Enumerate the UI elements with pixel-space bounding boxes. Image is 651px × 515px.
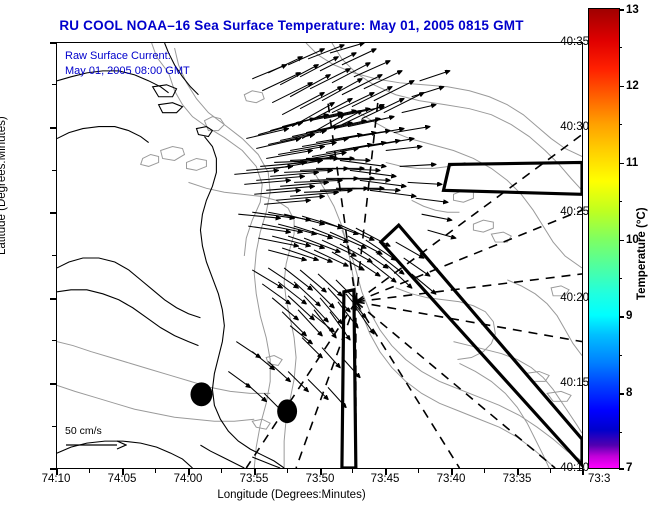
y-tick-label: 40:10: [560, 462, 589, 474]
colorbar-tick-minor: [619, 355, 622, 356]
y-tick: [50, 127, 56, 129]
map-graphics: [57, 43, 582, 468]
x-tick-label: 73:40: [437, 473, 466, 485]
annotation-line-1: Raw Surface Current:: [65, 49, 190, 64]
colorbar-label: 8: [626, 387, 632, 399]
y-tick: [50, 298, 56, 300]
colorbar-tick-minor: [619, 201, 622, 202]
colorbar-tick-minor: [619, 278, 622, 279]
y-tick-minor: [52, 255, 56, 256]
figure-title: RU COOL NOAA–16 Sea Surface Temperature:…: [0, 18, 583, 33]
coastline: [57, 43, 284, 468]
y-axis-title: Latitude (Degrees:Minutes): [0, 116, 8, 255]
x-tick-label: 74:05: [108, 473, 137, 485]
surface-current-vectors: [228, 43, 455, 413]
station-markers: [190, 382, 297, 423]
right-arrow-icon: [65, 439, 127, 451]
y-tick-minor: [52, 426, 56, 427]
colorbar-tick: [619, 316, 624, 318]
colorbar-label: 7: [626, 462, 632, 474]
colorbar-title: Temperature (°C): [636, 207, 648, 300]
colorbar-tick: [619, 393, 624, 395]
y-tick-label: 40:30: [560, 121, 589, 133]
x-tick-minor: [484, 469, 485, 473]
y-tick-minor: [52, 170, 56, 171]
colorbar-tick: [619, 9, 624, 11]
y-tick-minor: [52, 340, 56, 341]
colorbar-tick-minor: [619, 124, 622, 125]
y-tick: [50, 42, 56, 44]
x-tick-minor: [550, 469, 551, 473]
x-tick-minor: [418, 469, 419, 473]
colorbar-tick: [619, 163, 624, 165]
y-tick: [50, 383, 56, 385]
y-tick: [50, 212, 56, 214]
colorbar-tick: [619, 468, 624, 470]
quiver-scale-label: 50 cm/s: [65, 425, 127, 437]
colorbar-label: 11: [626, 157, 638, 169]
x-axis-title: Longitude (Degrees:Minutes): [0, 489, 583, 501]
x-tick-minor: [221, 469, 222, 473]
y-tick-label: 40:15: [560, 377, 589, 389]
x-tick-label: 73:35: [503, 473, 532, 485]
y-tick-label: 40:20: [560, 292, 589, 304]
x-tick-label: 73:55: [240, 473, 269, 485]
colorbar[interactable]: [588, 8, 620, 469]
colorbar-tick-minor: [619, 432, 622, 433]
figure-canvas: RU COOL NOAA–16 Sea Surface Temperature:…: [0, 0, 651, 515]
x-tick: [582, 469, 584, 475]
colorbar-label: 12: [626, 80, 639, 92]
x-tick-label: 73:3: [588, 473, 610, 485]
colorbar-tick: [619, 86, 624, 88]
quiver-scale-key: 50 cm/s: [65, 425, 127, 454]
colorbar-label: 13: [626, 4, 639, 16]
x-tick-label: 74:00: [174, 473, 203, 485]
annotation-text: Raw Surface Current: May 01, 2005 08:00 …: [65, 49, 190, 79]
radar-beam-polygons: [342, 162, 582, 468]
map-plot-area[interactable]: Raw Surface Current: May 01, 2005 08:00 …: [56, 42, 583, 469]
annotation-line-2: May 01, 2005 08:00 GMT: [65, 64, 190, 79]
y-tick-label: 40:35: [560, 36, 589, 48]
x-tick-label: 73:50: [306, 473, 335, 485]
colorbar-label: 9: [626, 310, 632, 322]
x-tick-label: 74:10: [42, 473, 71, 485]
x-tick-minor: [89, 469, 90, 473]
bathymetry-contours: [57, 43, 582, 468]
colorbar-tick-minor: [619, 47, 622, 48]
y-tick-label: 40:25: [560, 206, 589, 218]
x-tick-minor: [287, 469, 288, 473]
x-tick-minor: [352, 469, 353, 473]
y-tick-minor: [52, 84, 56, 85]
x-tick-minor: [155, 469, 156, 473]
x-tick-label: 73:45: [371, 473, 400, 485]
colorbar-tick: [619, 240, 624, 242]
